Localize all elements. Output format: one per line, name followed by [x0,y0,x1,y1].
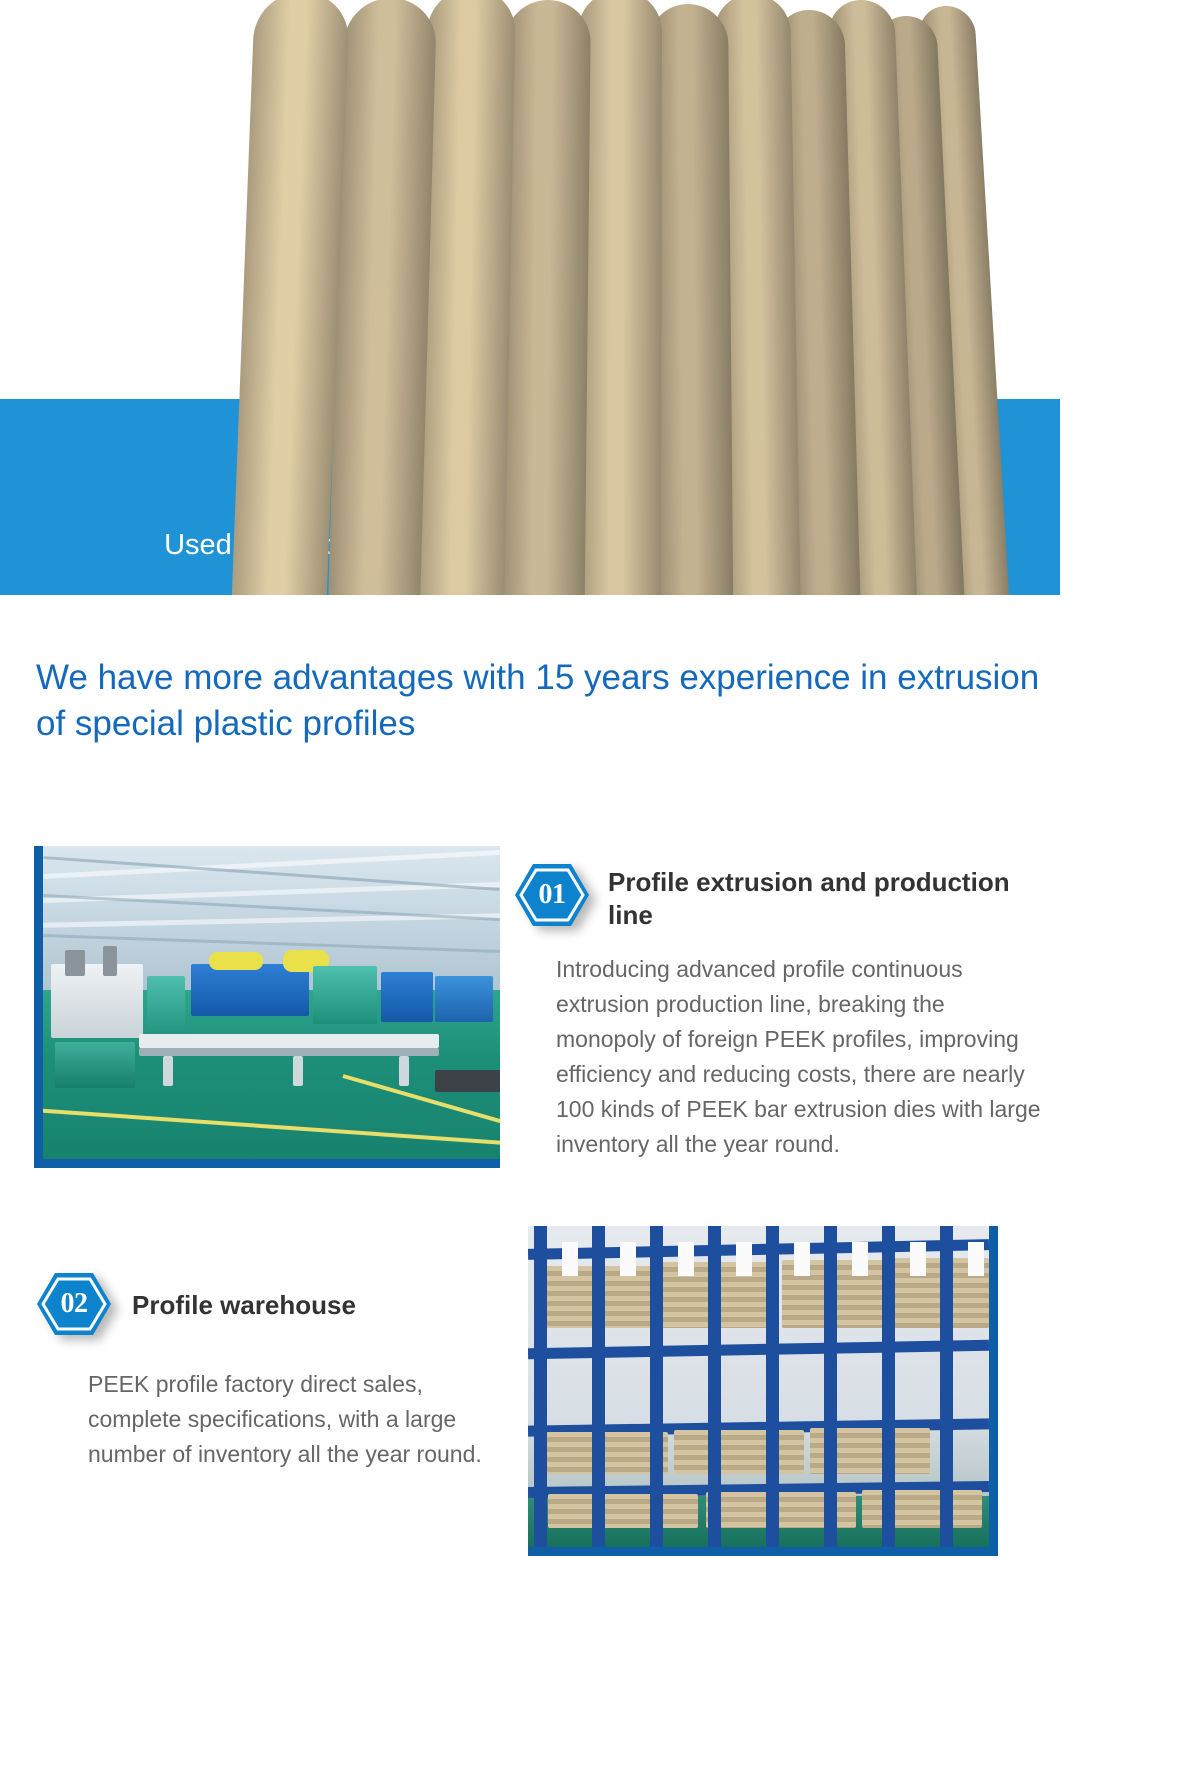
warehouse-shelf-tag [736,1242,752,1276]
feature-2-badge-number: 02 [36,1271,112,1337]
feature-2-title: Profile warehouse [132,1285,356,1322]
warehouse-rack-upright [650,1226,663,1547]
hexagon-badge-icon: 02 [36,1271,112,1337]
feature-2-body: PEEK profile factory direct sales, compl… [88,1367,518,1472]
feature-1-title: Profile extrusion and production line [608,862,1060,933]
feature-1-photo [43,846,500,1159]
warehouse-rack-upright [882,1226,895,1547]
feature-1-badge-number: 01 [514,862,590,928]
warehouse-shelf-tag [968,1242,984,1276]
peek-rod-bundle [862,1490,982,1528]
warehouse-shelf-tag [562,1242,578,1276]
feature-2-image-frame [528,1226,998,1556]
warehouse-shelf-tag [794,1242,810,1276]
warehouse-rack-upright [708,1226,721,1547]
warehouse-rack-upright [766,1226,779,1547]
feature-1-body: Introducing advanced profile continuous … [556,952,1046,1162]
warehouse-shelf-tag [678,1242,694,1276]
warehouse-rack-upright [824,1226,837,1547]
peek-rod-bundle [674,1430,804,1474]
feature-2-header: 02 Profile warehouse [36,1271,536,1337]
warehouse-rack-upright [940,1226,953,1547]
product-detail-page: PEEK rods Used for processing PEEK parts… [0,0,1200,1787]
warehouse-shelf-tag [852,1242,868,1276]
warehouse-rack-upright [534,1226,547,1547]
warehouse-rack-upright [592,1226,605,1547]
feature-1-header: 01 Profile extrusion and production line [514,862,1060,933]
peek-rod-bundle [548,1494,698,1528]
warehouse-shelf-tag [620,1242,636,1276]
hero-banner: PEEK rods Used for processing PEEK parts… [0,0,1060,595]
feature-2-photo [528,1226,989,1547]
hexagon-badge-icon: 01 [514,862,590,928]
feature-1-image-frame [34,846,500,1168]
warehouse-shelf-tag [910,1242,926,1276]
section-heading: We have more advantages with 15 years ex… [36,655,1046,747]
